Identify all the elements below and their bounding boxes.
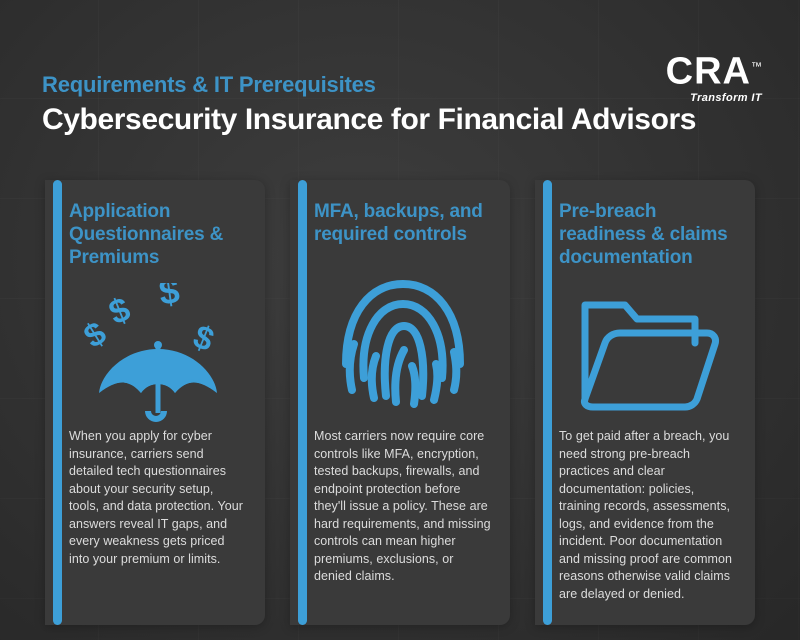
- card-body: Most carriers now require core controls …: [314, 428, 492, 586]
- page-title: Cybersecurity Insurance for Financial Ad…: [42, 102, 696, 138]
- card-application-questionnaires: Application Questionnaires & Premiums $ …: [45, 180, 265, 625]
- eyebrow-text: Requirements & IT Prerequisites: [42, 72, 696, 98]
- logo: CRA™ Transform IT: [666, 48, 762, 104]
- svg-text:$: $: [156, 283, 182, 313]
- logo-wordmark: CRA™: [666, 48, 762, 91]
- open-folder-icon: [559, 278, 737, 428]
- svg-text:$: $: [104, 290, 136, 332]
- svg-text:$: $: [188, 317, 219, 358]
- umbrella-with-falling-dollars-icon: $ $ $ $: [69, 278, 247, 428]
- card-title: MFA, backups, and required controls: [314, 200, 492, 255]
- svg-text:$: $: [83, 314, 112, 355]
- accent-bar: [543, 180, 552, 625]
- accent-bar: [298, 180, 307, 625]
- header: Requirements & IT Prerequisites Cybersec…: [42, 72, 696, 138]
- accent-bar: [53, 180, 62, 625]
- infographic-canvas: Requirements & IT Prerequisites Cybersec…: [0, 0, 800, 640]
- card-body: To get paid after a breach, you need str…: [559, 428, 737, 603]
- card-list: Application Questionnaires & Premiums $ …: [0, 180, 800, 625]
- trademark-icon: ™: [751, 61, 762, 73]
- logo-tagline: Transform IT: [666, 92, 762, 104]
- card-body: When you apply for cyber insurance, carr…: [69, 428, 247, 568]
- card-pre-breach-readiness: Pre-breach readiness & claims documentat…: [535, 180, 755, 625]
- card-title: Application Questionnaires & Premiums: [69, 200, 247, 278]
- fingerprint-icon: [314, 255, 492, 428]
- card-title: Pre-breach readiness & claims documentat…: [559, 200, 737, 278]
- logo-mark-text: CRA: [666, 51, 751, 93]
- card-mfa-backups-controls: MFA, backups, and required controls Most…: [290, 180, 510, 625]
